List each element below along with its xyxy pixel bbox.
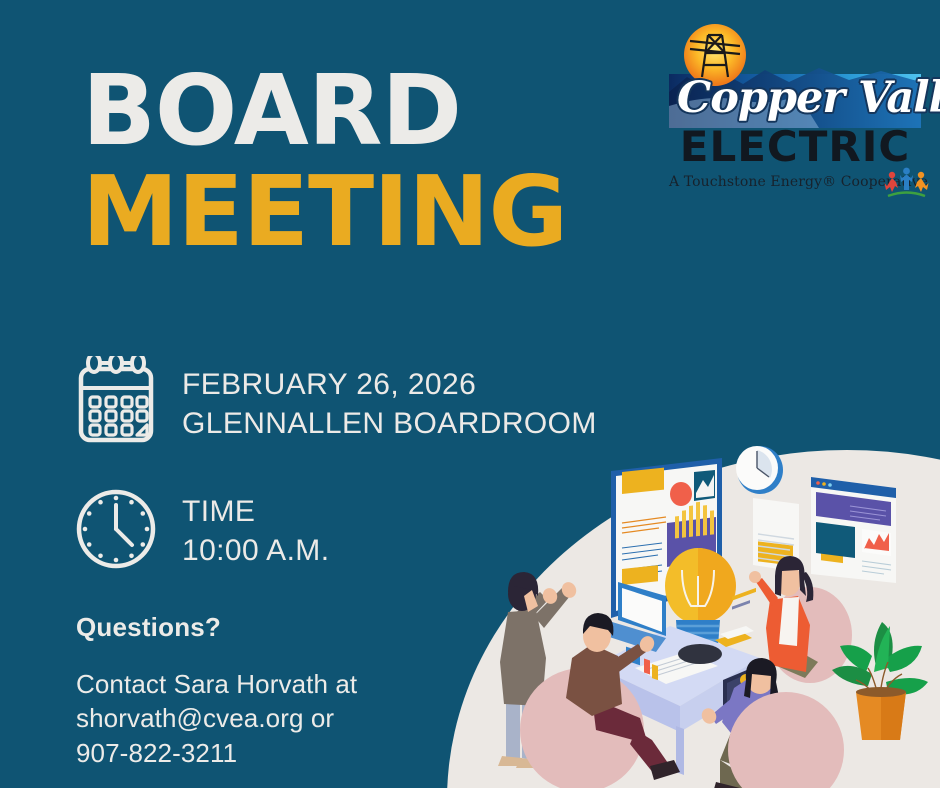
contact-line-phone[interactable]: 907-822-3211: [76, 736, 357, 770]
questions-title: Questions?: [76, 612, 357, 643]
questions-block: Questions? Contact Sara Horvath at shorv…: [76, 612, 357, 770]
business-meeting-illustration: [470, 430, 940, 788]
headline-line-meeting: MEETING: [82, 167, 567, 256]
meeting-time: 10:00 A.M.: [182, 532, 329, 570]
contact-line-name: Contact Sara Horvath at: [76, 667, 357, 701]
time-row: TIME 10:00 A.M.: [74, 483, 329, 580]
touchstone-people-icon: [884, 166, 929, 200]
time-label: TIME: [182, 493, 329, 531]
poster-canvas: BOARD MEETING: [0, 0, 940, 788]
calendar-icon: [74, 356, 158, 453]
contact-line-email[interactable]: shorvath@cvea.org or: [76, 701, 357, 735]
contact-info: Contact Sara Horvath at shorvath@cvea.or…: [76, 667, 357, 770]
logo-wordmark: Copper Valley: [677, 72, 917, 124]
meeting-date: FEBRUARY 26, 2026: [182, 366, 597, 404]
logo-tagline: A Touchstone Energy® Cooperative: [669, 174, 884, 190]
time-text-group: TIME 10:00 A.M.: [182, 493, 329, 569]
page-title: BOARD MEETING: [82, 66, 567, 256]
copper-valley-electric-logo: Copper Valley ELECTRIC A Touchstone Ener…: [669, 14, 931, 194]
logo-electric-text: ELECTRIC: [669, 126, 921, 168]
browser-window-chart: [811, 477, 896, 583]
wall-clock: [736, 446, 783, 494]
headline-line-board: BOARD: [82, 66, 567, 155]
clock-icon: [74, 483, 158, 580]
